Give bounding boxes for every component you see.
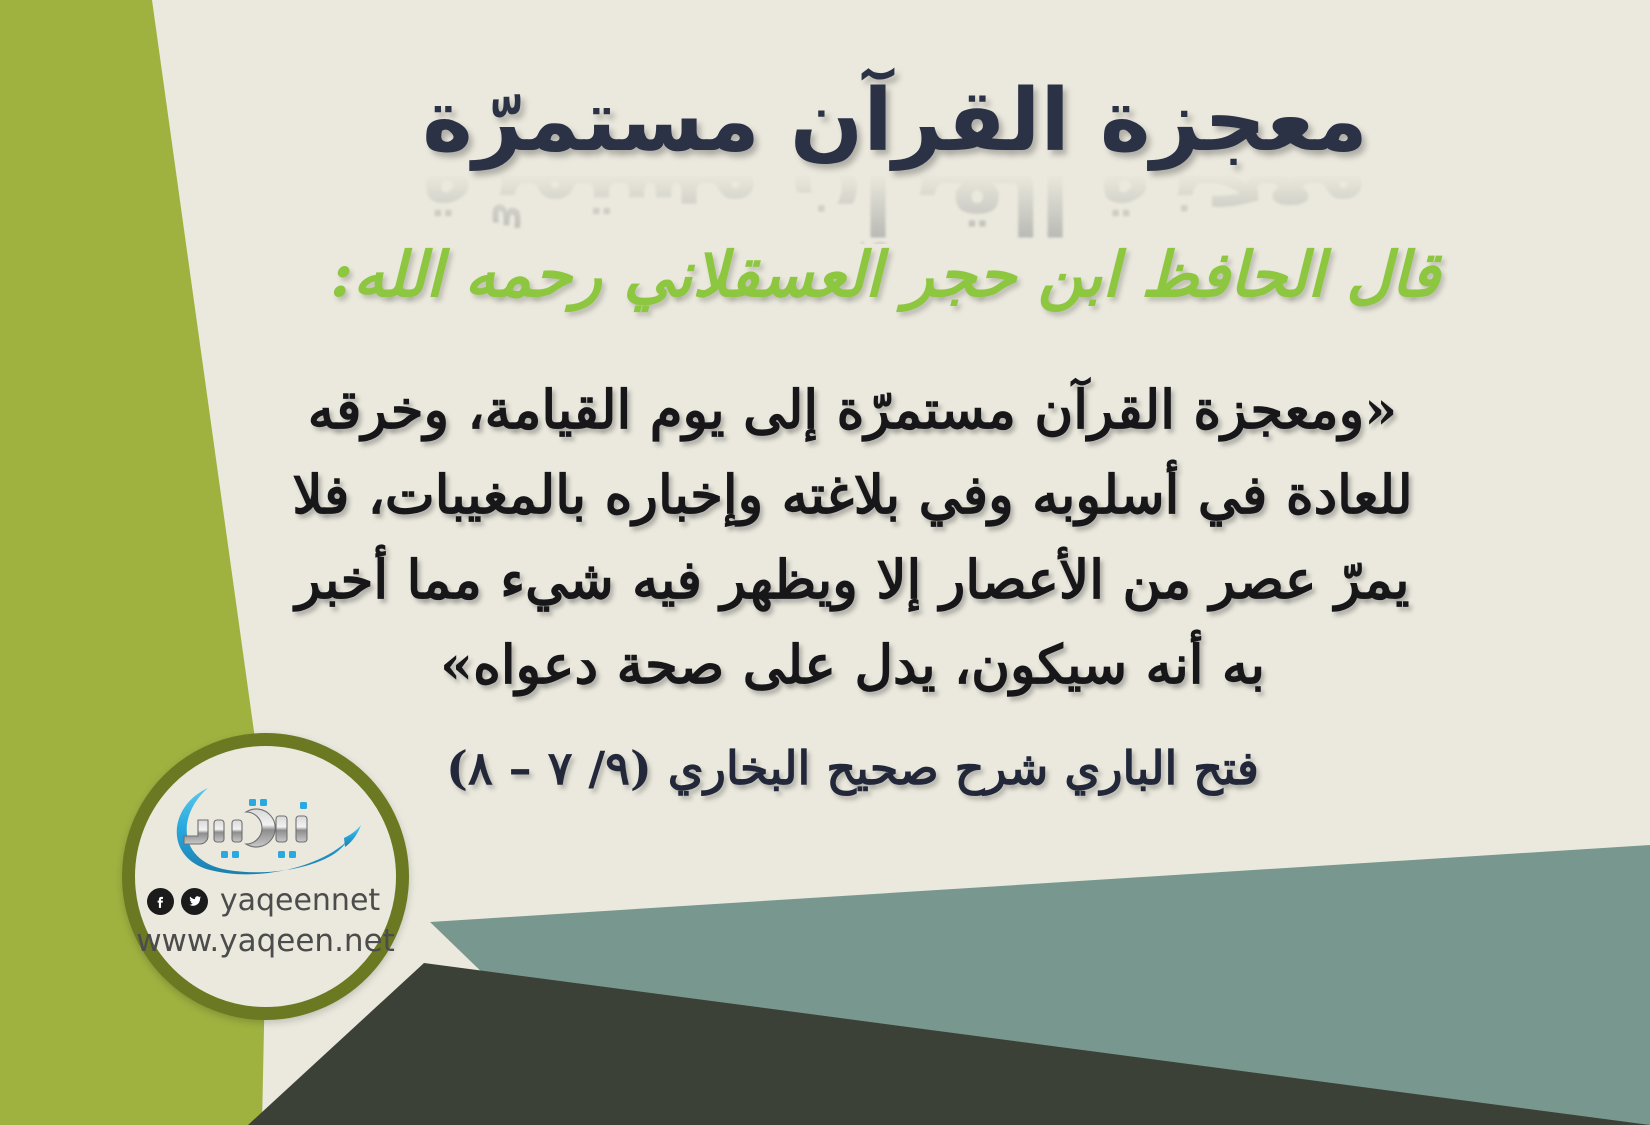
poster-content: معجزة القرآن مستمرّة معجزة القرآن مستمرّ…: [0, 0, 1650, 1125]
quote-line: «ومعجزة القرآن مستمرّة إلى يوم القيامة، …: [255, 368, 1450, 453]
facebook-icon[interactable]: [147, 888, 174, 915]
quote-line: يمرّ عصر من الأعصار إلا ويظهر فيه شيء مم…: [255, 538, 1450, 623]
attribution-line: قال الحافظ ابن حجر العسقلاني رحمه الله:: [240, 238, 1530, 311]
quote-body: «ومعجزة القرآن مستمرّة إلى يوم القيامة، …: [255, 368, 1450, 708]
title-reflection: معجزة القرآن مستمرّة: [230, 166, 1560, 244]
twitter-icon[interactable]: [181, 888, 208, 915]
quote-line: به أنه سيكون، يدل على صحة دعواه»: [255, 623, 1450, 708]
quote-line: للعادة في أسلوبه وفي بلاغته وإخباره بالم…: [255, 453, 1450, 538]
social-links-row[interactable]: yaqeennet: [135, 886, 396, 916]
title-block: معجزة القرآن مستمرّة معجزة القرآن مستمرّ…: [230, 78, 1560, 244]
website-url[interactable]: www.yaqeen.net: [135, 926, 396, 957]
page-title: معجزة القرآن مستمرّة: [230, 78, 1560, 164]
yaqeen-wordmark-icon: [135, 772, 396, 884]
poster-canvas: معجزة القرآن مستمرّة معجزة القرآن مستمرّ…: [0, 0, 1650, 1125]
source-citation: فتح الباري شرح صحيح البخاري (٩/ ٧ – ٨): [255, 735, 1450, 801]
brand-logo-badge[interactable]: yaqeennet www.yaqeen.net: [122, 733, 409, 1020]
social-handle: yaqeennet: [215, 886, 380, 916]
